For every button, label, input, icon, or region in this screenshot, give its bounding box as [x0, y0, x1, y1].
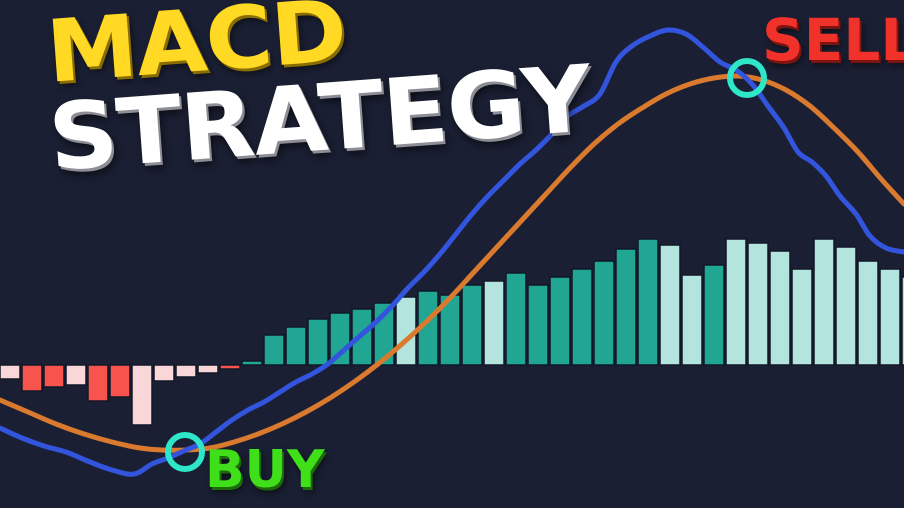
macd-chart	[0, 0, 904, 508]
histogram-bar	[594, 261, 614, 365]
histogram-bar	[528, 285, 548, 365]
histogram-bar	[220, 365, 240, 369]
histogram-bar	[154, 365, 174, 381]
histogram-bar	[176, 365, 196, 377]
macd-strategy-thumbnail: MACD STRATEGY SELL BUY	[0, 0, 904, 508]
histogram-bar	[132, 365, 152, 425]
histogram-bar	[682, 275, 702, 365]
histogram-bar	[704, 265, 724, 365]
histogram-bar	[242, 361, 262, 365]
histogram-bar	[0, 365, 20, 379]
histogram-bar	[110, 365, 130, 397]
histogram-bar	[836, 247, 856, 365]
histogram-bar	[484, 281, 504, 365]
histogram-bar	[88, 365, 108, 401]
histogram-bar	[66, 365, 86, 385]
histogram-bar	[286, 327, 306, 365]
histogram-bar	[44, 365, 64, 387]
histogram-bar	[550, 277, 570, 365]
histogram-bar	[198, 365, 218, 373]
histogram-bar	[638, 239, 658, 365]
histogram-bar	[308, 319, 328, 365]
histogram-bar	[462, 285, 482, 365]
histogram-bar	[792, 269, 812, 365]
histogram-bar	[264, 335, 284, 365]
histogram-bar	[22, 365, 42, 391]
histogram-bar	[616, 249, 636, 365]
histogram-bars	[0, 239, 904, 497]
histogram-bar	[572, 269, 592, 365]
histogram-bar	[748, 243, 768, 365]
histogram-bar	[814, 239, 834, 365]
histogram-bar	[660, 245, 680, 365]
histogram-bar	[880, 269, 900, 365]
histogram-bar	[858, 261, 878, 365]
histogram-bar	[726, 239, 746, 365]
histogram-bar	[770, 251, 790, 365]
histogram-bar	[506, 273, 526, 365]
